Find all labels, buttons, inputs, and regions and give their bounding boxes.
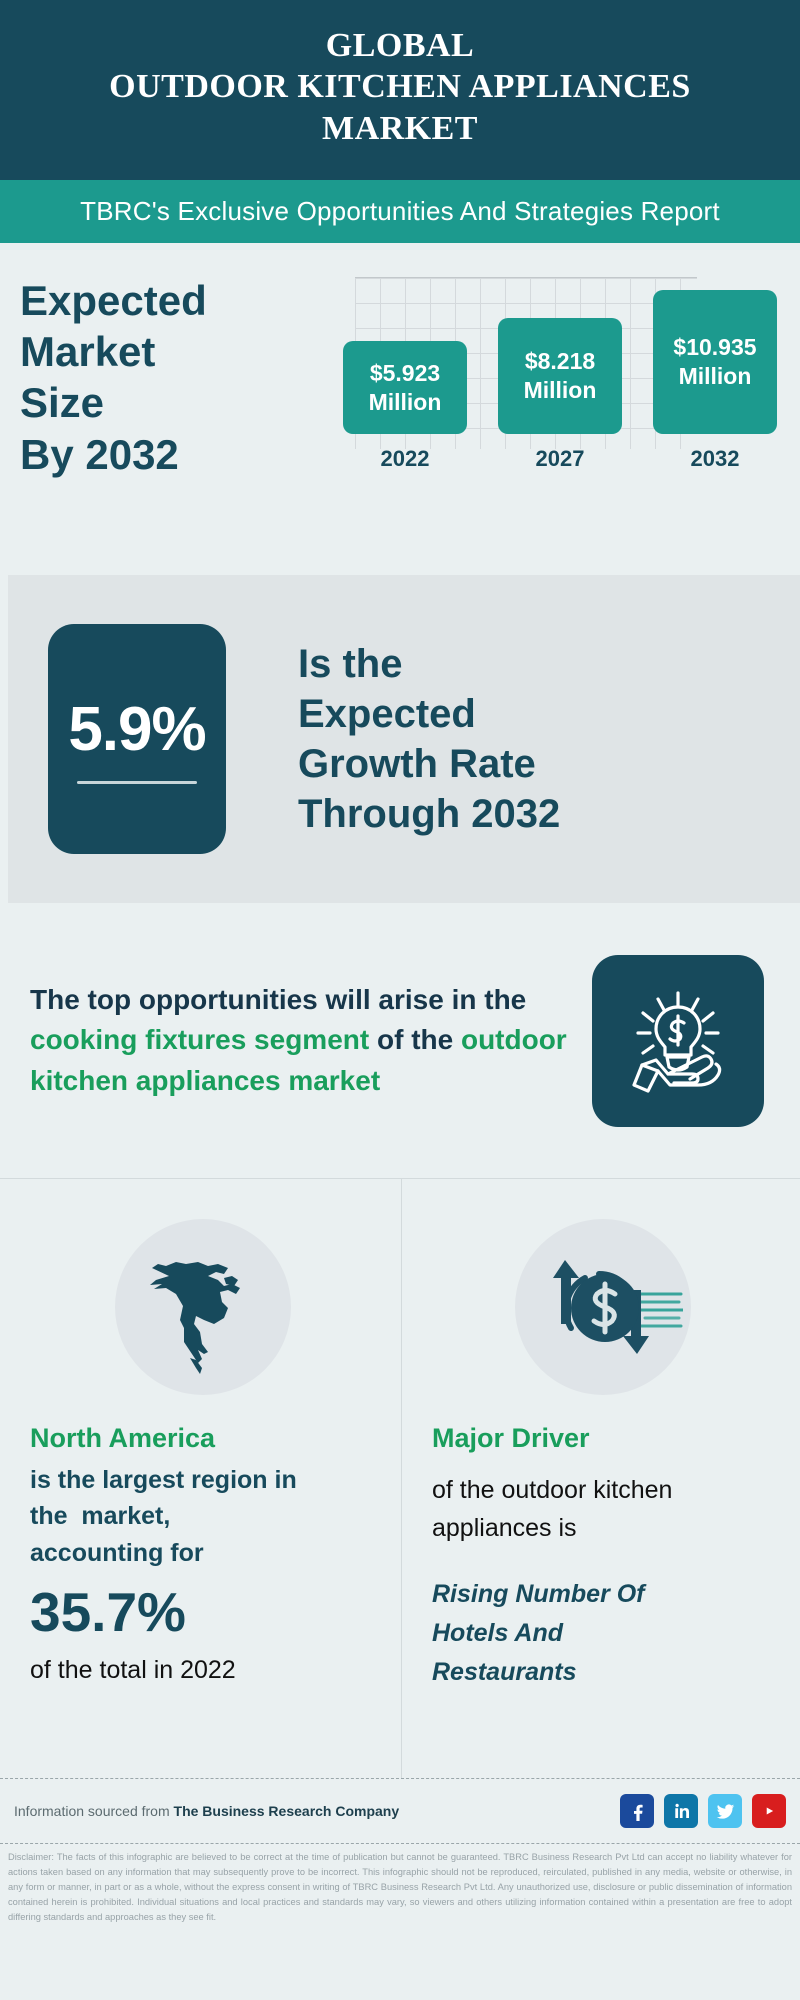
linkedin-icon[interactable] — [664, 1794, 698, 1828]
region-line-2: the market, — [30, 1498, 375, 1534]
opportunity-highlight-3: outdoor — [461, 1024, 567, 1055]
bar-2022-value: $5.923 — [370, 359, 440, 388]
disclaimer-text: Disclaimer: The facts of this infographi… — [0, 1844, 800, 1925]
growth-text-line-3: Growth Rate — [298, 739, 560, 789]
bar-2032: $10.935 Million — [653, 290, 777, 434]
social-links — [620, 1794, 786, 1828]
subtitle-band: TBRC's Exclusive Opportunities And Strat… — [0, 180, 800, 243]
page-title: GLOBAL OUTDOOR KITCHEN APPLIANCES MARKET — [109, 25, 691, 149]
lightbulb-in-hand-icon — [592, 955, 764, 1127]
market-size-section: Expected Market Size By 2032 $5.923 Mill… — [0, 243, 800, 575]
source-attribution: Information sourced from The Business Re… — [14, 1803, 399, 1819]
opportunity-highlight-2: segment — [254, 1024, 369, 1055]
x-label-2032: 2032 — [650, 446, 780, 472]
x-label-2022: 2022 — [340, 446, 470, 472]
bar-2027: $8.218 Million — [498, 318, 622, 434]
driver-emph-line-3: Restaurants — [432, 1653, 774, 1692]
bar-column-2022: $5.923 Million — [340, 341, 470, 434]
opportunity-part-2: arise in the — [378, 984, 526, 1015]
opportunity-section: The top opportunities will arise in the … — [0, 903, 800, 1178]
region-share-note: of the total in 2022 — [30, 1652, 375, 1690]
growth-text-line-4: Through 2032 — [298, 789, 560, 839]
region-description: is the largest region in the market, acc… — [30, 1462, 375, 1571]
bar-2022-unit: Million — [369, 388, 442, 417]
opportunity-statement: The top opportunities will arise in the … — [30, 980, 572, 1102]
chart-bars: $5.923 Million $8.218 Million $10.935 Mi… — [340, 254, 780, 434]
growth-rate-badge: 5.9% — [48, 624, 226, 854]
title-line-2: OUTDOOR KITCHEN APPLIANCES — [109, 66, 691, 107]
driver-icon-wrap — [432, 1207, 774, 1407]
growth-underline-decoration — [77, 781, 197, 784]
bottom-panels: North America is the largest region in t… — [0, 1178, 800, 1778]
x-label-2027: 2027 — [495, 446, 625, 472]
driver-emphasis: Rising Number Of Hotels And Restaurants — [432, 1575, 774, 1691]
market-heading-line-3: Size — [20, 377, 320, 428]
region-panel: North America is the largest region in t… — [0, 1179, 402, 1778]
bar-2032-unit: Million — [679, 362, 752, 391]
twitter-icon[interactable] — [708, 1794, 742, 1828]
chart-x-axis-labels: 2022 2027 2032 — [340, 446, 780, 472]
north-america-map-icon — [128, 1232, 278, 1382]
source-company: The Business Research Company — [174, 1803, 400, 1819]
driver-panel: Major Driver of the outdoor kitchen appl… — [402, 1179, 800, 1778]
market-heading-line-1: Expected — [20, 275, 320, 326]
driver-emph-line-1: Rising Number Of — [432, 1575, 774, 1614]
driver-icon-circle — [515, 1219, 691, 1395]
region-line-3: accounting for — [30, 1535, 375, 1571]
market-size-bar-chart: $5.923 Million $8.218 Million $10.935 Mi… — [340, 277, 780, 482]
opportunity-part-3: of the — [369, 1024, 461, 1055]
dollar-exchange-icon — [523, 1232, 683, 1382]
facebook-icon[interactable] — [620, 1794, 654, 1828]
opportunity-highlight-1: cooking fixtures — [30, 1024, 246, 1055]
footer-source-bar: Information sourced from The Business Re… — [0, 1778, 800, 1844]
growth-rate-description: Is the Expected Growth Rate Through 2032 — [298, 639, 560, 839]
header-banner: GLOBAL OUTDOOR KITCHEN APPLIANCES MARKET — [0, 0, 800, 180]
driver-title: Major Driver — [432, 1423, 774, 1454]
title-line-1: GLOBAL — [109, 25, 691, 66]
region-title: North America — [30, 1423, 375, 1454]
driver-line-2: appliances is — [432, 1510, 774, 1548]
growth-rate-value: 5.9% — [68, 694, 205, 765]
region-line-1: is the largest region in — [30, 1462, 375, 1498]
growth-text-line-1: Is the — [298, 639, 560, 689]
bar-2027-unit: Million — [524, 376, 597, 405]
driver-line-1: of the outdoor kitchen — [432, 1472, 774, 1510]
bar-2027-value: $8.218 — [525, 347, 595, 376]
driver-emph-line-2: Hotels And — [432, 1614, 774, 1653]
youtube-icon[interactable] — [752, 1794, 786, 1828]
title-line-3: MARKET — [109, 108, 691, 149]
region-share-value: 35.7% — [30, 1581, 375, 1644]
opportunity-part-1: The top opportunities will — [30, 984, 371, 1015]
market-heading-line-2: Market — [20, 326, 320, 377]
bar-column-2032: $10.935 Million — [650, 290, 780, 434]
source-prefix: Information sourced from — [14, 1803, 174, 1819]
growth-rate-section: 5.9% Is the Expected Growth Rate Through… — [8, 575, 800, 903]
bar-2022: $5.923 Million — [343, 341, 467, 434]
market-heading-line-4: By 2032 — [20, 429, 320, 480]
opportunity-highlight-4: kitchen appliances market — [30, 1065, 380, 1096]
bar-column-2027: $8.218 Million — [495, 318, 625, 434]
driver-description: of the outdoor kitchen appliances is — [432, 1472, 774, 1547]
market-size-heading: Expected Market Size By 2032 — [20, 275, 320, 480]
bar-2032-value: $10.935 — [673, 333, 756, 362]
region-icon-circle — [115, 1219, 291, 1395]
growth-text-line-2: Expected — [298, 689, 560, 739]
region-icon-wrap — [30, 1207, 375, 1407]
subtitle-text: TBRC's Exclusive Opportunities And Strat… — [80, 196, 720, 227]
